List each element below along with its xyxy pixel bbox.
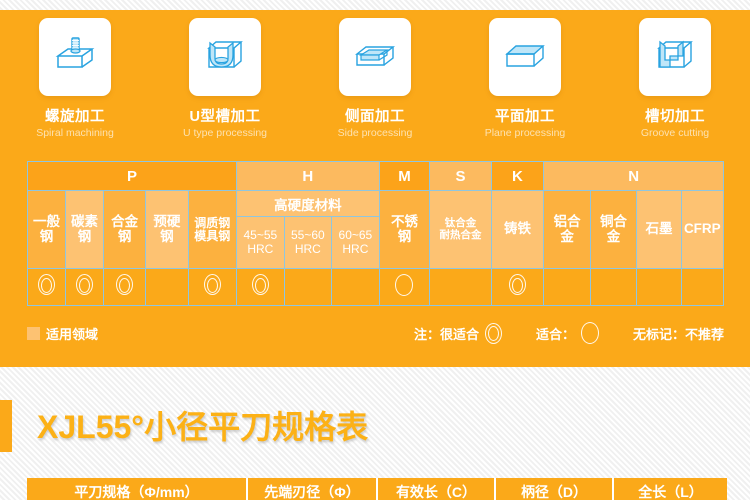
- group-header-row: P H M S K N: [28, 162, 724, 191]
- card-title-en: Groove cutting: [641, 127, 709, 139]
- suitable-mark: [581, 322, 599, 344]
- card-title-en: Spiral machining: [36, 127, 114, 139]
- machining-card[interactable]: 平面加工 Plane processing: [457, 18, 594, 139]
- group-header-K: K: [491, 162, 544, 191]
- group-header-S: S: [430, 162, 491, 191]
- material-col-hrc-55-60: 55~60 HRC: [284, 217, 332, 269]
- suitability-mark-row: [28, 269, 724, 306]
- legend-suitable-label: 适合：: [536, 324, 575, 343]
- high-hardness-group-title: 高硬度材料: [237, 191, 380, 217]
- card-icon-box: [39, 18, 111, 96]
- mark-prehardened-steel: [146, 269, 188, 306]
- material-col-general-steel: 一般 钢: [28, 191, 66, 269]
- legend-not-recommended-label: 无标记：不推荐: [633, 324, 724, 343]
- machining-card[interactable]: 侧面加工 Side processing: [307, 18, 444, 139]
- mark-carbon-steel: [66, 269, 104, 306]
- very-suitable-mark: [509, 274, 526, 295]
- material-col-cast-iron: 铸铁: [491, 191, 544, 269]
- material-col-quenched-mold-steel: 调质钢 模具钢: [188, 191, 237, 269]
- mark-hrc-60-65: [332, 269, 380, 306]
- card-icon-box: [339, 18, 411, 96]
- spec-header-diameter: 平刀规格（Φ/mm）: [27, 478, 247, 500]
- side-machining-icon: [352, 34, 398, 80]
- material-col-prehardened-steel: 预硬 钢: [146, 191, 188, 269]
- mark-titanium-heatresist-alloy: [430, 269, 491, 306]
- card-title-cn: 槽切加工: [645, 105, 705, 126]
- card-icon-box: [189, 18, 261, 96]
- mark-graphite: [637, 269, 681, 306]
- legend-swatch-icon: [27, 327, 40, 340]
- legend-very-suitable: 注：很适合: [414, 323, 502, 344]
- legend-suitable: 适合：: [536, 322, 599, 344]
- mark-cfrp: [681, 269, 723, 306]
- material-col-hrc-60-65: 60~65 HRC: [332, 217, 380, 269]
- very-suitable-mark: [485, 323, 502, 344]
- spec-section: XJL55°小径平刀规格表 平刀规格（Φ/mm） 先端刃径（Φ） 有效长（C） …: [0, 367, 750, 500]
- very-suitable-mark: [204, 274, 221, 295]
- suitable-mark: [395, 274, 413, 296]
- groove-cutting-icon: [652, 34, 698, 80]
- mark-alloy-steel: [104, 269, 146, 306]
- card-icon-box: [489, 18, 561, 96]
- card-title-en: Side processing: [338, 127, 413, 139]
- legend-note-prefix: 注：很适合: [414, 324, 479, 343]
- very-suitable-mark: [38, 274, 55, 295]
- spec-header-total-length: 全长（L）: [613, 478, 727, 500]
- group-header-N: N: [544, 162, 724, 191]
- page-root: 螺旋加工 Spiral machining U型槽加工 U type proce…: [0, 0, 750, 500]
- material-col-copper-alloy: 铜合 金: [590, 191, 636, 269]
- spec-header-row: 平刀规格（Φ/mm） 先端刃径（Φ） 有效长（C） 柄径（D） 全长（L）: [27, 478, 727, 500]
- material-col-alloy-steel: 合金 钢: [104, 191, 146, 269]
- u-groove-machining-icon: [202, 34, 248, 80]
- mark-quenched-mold-steel: [188, 269, 237, 306]
- plane-machining-icon: [502, 34, 548, 80]
- mark-aluminum-alloy: [544, 269, 590, 306]
- material-col-stainless-steel: 不锈 钢: [379, 191, 430, 269]
- machining-card[interactable]: U型槽加工 U type processing: [157, 18, 294, 139]
- mark-general-steel: [28, 269, 66, 306]
- mark-hrc-55-60: [284, 269, 332, 306]
- mark-cast-iron: [491, 269, 544, 306]
- machining-card[interactable]: 槽切加工 Groove cutting: [607, 18, 744, 139]
- mark-hrc-45-55: [237, 269, 285, 306]
- very-suitable-mark: [252, 274, 269, 295]
- card-icon-box: [639, 18, 711, 96]
- spiral-machining-icon: [52, 34, 98, 80]
- legend-applicable-area: 适用领域: [27, 324, 98, 343]
- group-header-H: H: [237, 162, 380, 191]
- title-accent-bar: [0, 400, 12, 452]
- card-title-cn: 螺旋加工: [45, 105, 105, 126]
- very-suitable-mark: [116, 274, 133, 295]
- legend-not-recommended: 无标记：不推荐: [633, 324, 724, 343]
- very-suitable-mark: [76, 274, 93, 295]
- table-legend: 适用领域 注：很适合 适合： 无标记：不推荐: [27, 320, 724, 346]
- legend-applicable-label: 适用领域: [46, 324, 98, 343]
- spec-header-effective-length: 有效长（C）: [377, 478, 495, 500]
- card-title-en: U type processing: [183, 127, 267, 139]
- material-col-graphite: 石墨: [637, 191, 681, 269]
- spec-section-title: XJL55°小径平刀规格表: [37, 402, 368, 448]
- group-header-M: M: [379, 162, 430, 191]
- material-col-hrc-45-55: 45~55 HRC: [237, 217, 285, 269]
- card-title-cn: U型槽加工: [190, 105, 261, 126]
- card-title-cn: 侧面加工: [345, 105, 405, 126]
- material-col-cfrp: CFRP: [681, 191, 723, 269]
- material-suitability-table: P H M S K N 一般 钢 碳素 钢 合金 钢 预硬 钢: [27, 161, 724, 306]
- spec-header-table: 平刀规格（Φ/mm） 先端刃径（Φ） 有效长（C） 柄径（D） 全长（L）: [27, 478, 727, 500]
- machining-card[interactable]: 螺旋加工 Spiral machining: [7, 18, 144, 139]
- group-header-P: P: [28, 162, 237, 191]
- machining-cards-row: 螺旋加工 Spiral machining U型槽加工 U type proce…: [0, 18, 750, 158]
- material-name-row: 一般 钢 碳素 钢 合金 钢 预硬 钢 调质钢 模具钢 高硬度材料 不锈: [28, 191, 724, 217]
- mark-copper-alloy: [590, 269, 636, 306]
- material-col-carbon-steel: 碳素 钢: [66, 191, 104, 269]
- card-title-cn: 平面加工: [495, 105, 555, 126]
- mark-stainless-steel: [379, 269, 430, 306]
- spec-header-tip-diameter: 先端刃径（Φ）: [247, 478, 377, 500]
- card-title-en: Plane processing: [485, 127, 566, 139]
- material-col-aluminum-alloy: 铝合 金: [544, 191, 590, 269]
- spec-header-shank-diameter: 柄径（D）: [495, 478, 613, 500]
- material-col-titanium-heatresist-alloy: 钛合金 耐热合金: [430, 191, 491, 269]
